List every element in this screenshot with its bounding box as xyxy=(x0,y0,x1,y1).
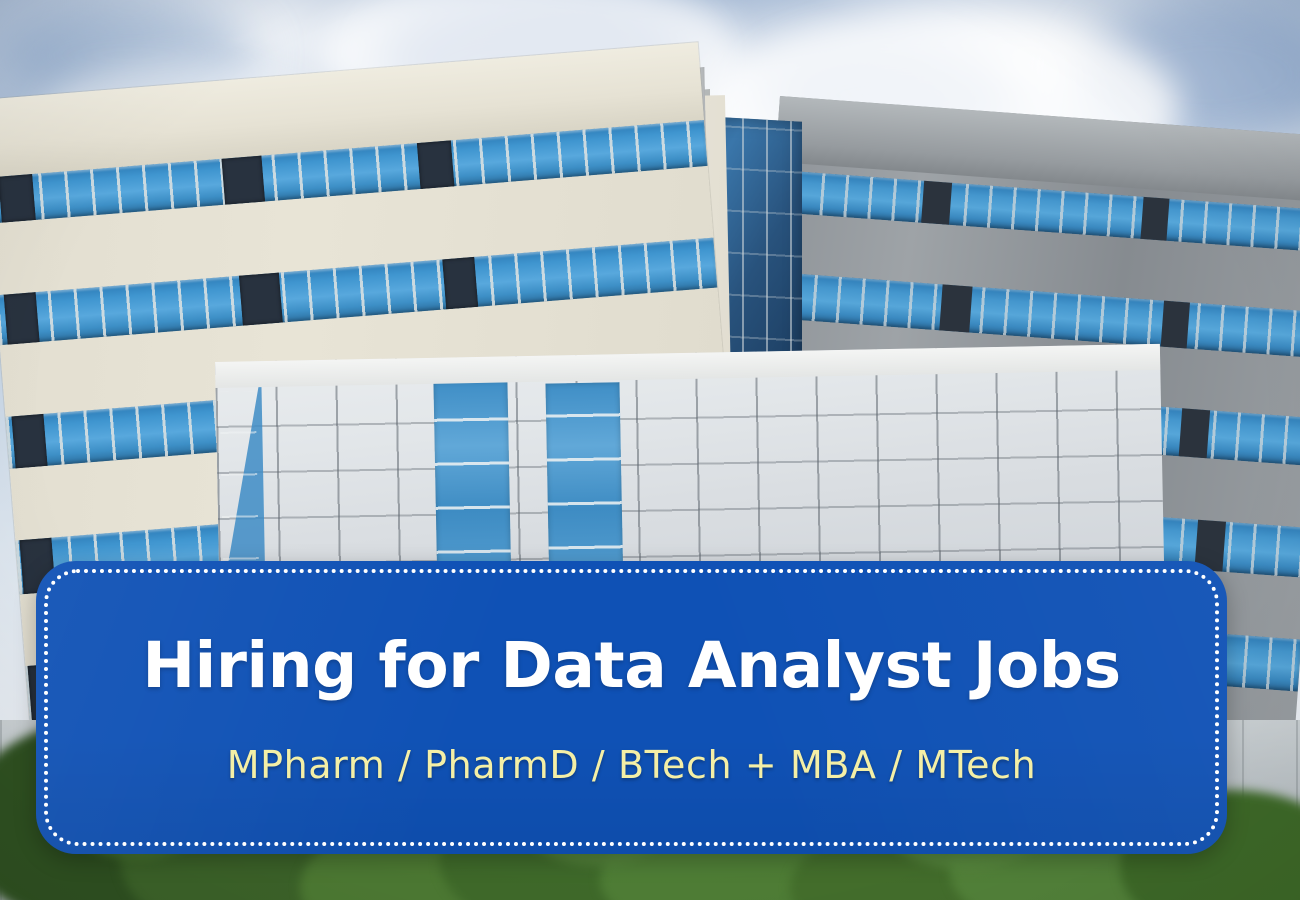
window-band xyxy=(0,238,717,346)
dark-window-pane xyxy=(4,292,40,344)
dark-window-pane xyxy=(1161,301,1190,349)
dark-window-pane xyxy=(239,273,283,326)
dark-window-pane xyxy=(1141,197,1170,241)
qualifications-subtitle: MPharm / PharmD / BTech + MBA / MTech xyxy=(227,745,1037,787)
dark-window-pane xyxy=(442,257,478,309)
dark-window-pane xyxy=(0,174,36,223)
dark-window-pane xyxy=(417,140,455,189)
announcement-card: Hiring for Data Analyst Jobs MPharm / Ph… xyxy=(36,561,1227,854)
dark-window-pane xyxy=(921,181,952,225)
dark-window-pane xyxy=(939,284,972,332)
dark-window-pane xyxy=(221,156,265,205)
page-title: Hiring for Data Analyst Jobs xyxy=(142,634,1120,698)
poster: Hiring for Data Analyst Jobs MPharm / Ph… xyxy=(0,0,1300,900)
card-content: Hiring for Data Analyst Jobs MPharm / Ph… xyxy=(36,561,1227,854)
dark-window-pane xyxy=(11,414,47,468)
dark-window-pane xyxy=(1179,408,1210,458)
